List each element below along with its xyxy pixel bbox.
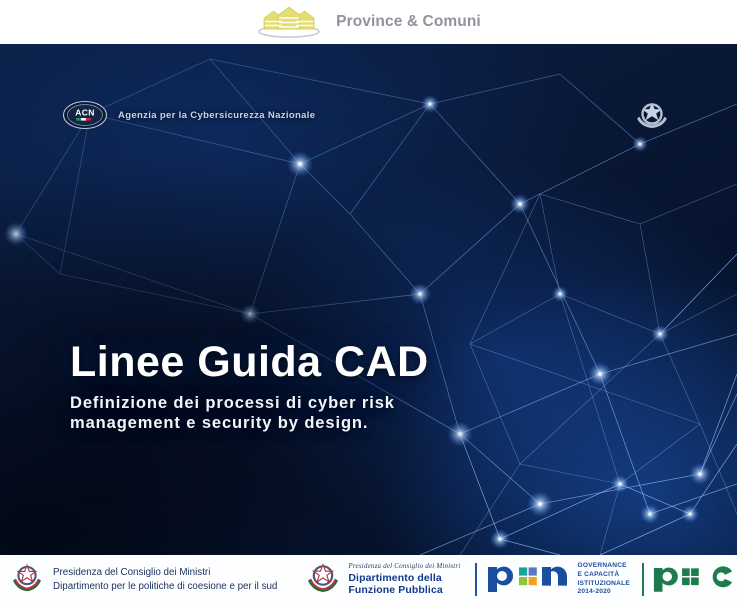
footer-pcm-line-2: Dipartimento per le politiche di coesion… [53,580,277,594]
italian-republic-emblem [632,99,672,131]
acn-emblem: ACN [62,100,108,130]
footer-pon-block: GOVERNANCE E CAPACITÀ ISTITUZIONALE 2014… [486,555,630,604]
page-subtitle: Definizione dei processi di cyber risk m… [70,393,429,433]
poc-logo [652,562,734,598]
footer-logo-bar: Presidenza del Consiglio dei Ministri Di… [0,555,737,604]
top-brand-bar: Province & Comuni [0,0,737,44]
subtitle-line-2: management e security by design. [70,414,368,432]
hero-banner: ACN Agenzia per la Cybersicurezza Nazion… [0,44,737,555]
italian-republic-emblem [10,560,44,599]
footer-dfp-line-1: Dipartimento della [348,572,460,584]
pon-tag-line-2: E CAPACITÀ [578,571,630,580]
acn-agency-block: ACN Agenzia per la Cybersicurezza Nazion… [62,100,315,130]
svg-text:ACN: ACN [75,108,95,118]
footer-pcm-text: Presidenza del Consiglio dei Ministri Di… [53,566,277,594]
footer-pcm-line-1: Presidenza del Consiglio dei Ministri [53,567,210,578]
footer-dfp-block: Presidenza del Consiglio dei Ministri Di… [277,555,460,604]
cover-page: Province & Comuni [0,0,737,604]
acn-agency-label: Agenzia per la Cybersicurezza Nazionale [118,110,315,121]
italian-republic-emblem [305,559,341,600]
footer-divider-2 [642,563,644,596]
page-title: Linee Guida CAD [70,341,429,385]
footer-dfp-script: Presidenza del Consiglio dei Ministri [348,563,460,570]
province-comuni-logo [256,5,322,39]
footer-dfp-text: Presidenza del Consiglio dei Ministri Di… [348,563,460,596]
subtitle-line-1: Definizione dei processi di cyber risk [70,394,395,412]
pon-tag-line-3: ISTITUZIONALE [578,580,630,589]
pon-tagline: GOVERNANCE E CAPACITÀ ISTITUZIONALE 2014… [578,562,630,597]
footer-divider-1 [475,563,477,596]
brand-title: Province & Comuni [336,13,481,31]
pon-tag-line-1: GOVERNANCE [578,562,630,571]
hero-title-block: Linee Guida CAD Definizione dei processi… [70,341,429,433]
pon-tag-line-4: 2014-2020 [578,588,630,597]
footer-dfp-line-2: Funzione Pubblica [348,584,460,596]
footer-poc-block: PROGRAMMA OPERATIVO COMPLEMENTARE [652,555,737,604]
pon-logo [486,561,572,598]
footer-pcm-block: Presidenza del Consiglio dei Ministri Di… [0,555,277,604]
